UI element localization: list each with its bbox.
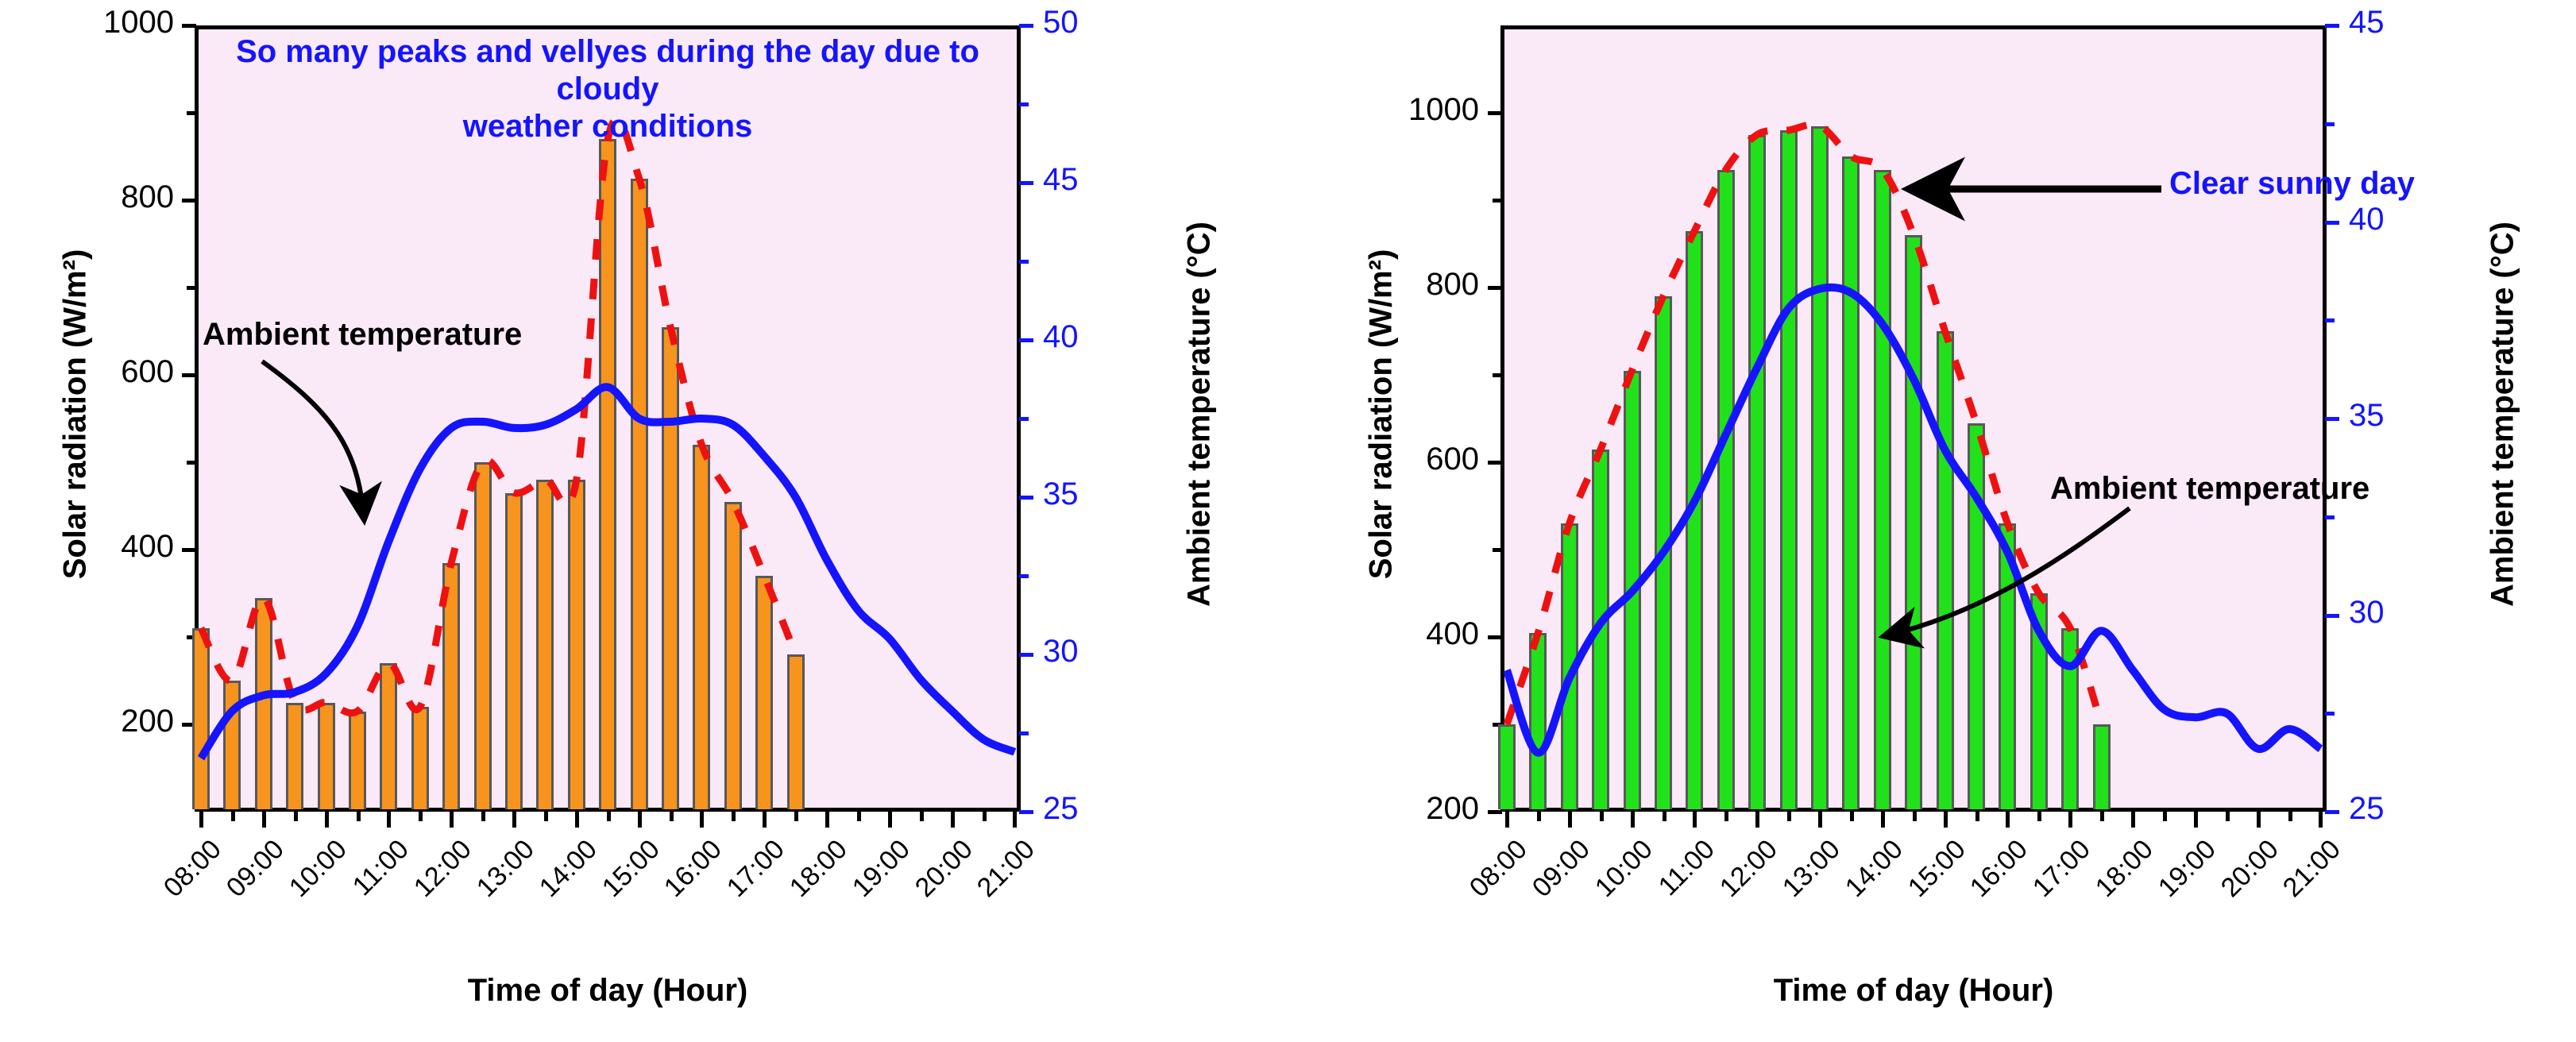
secondary-y-axis-minor-tick <box>1019 417 1029 421</box>
secondary-y-axis-tick-label: 30 <box>2349 595 2476 631</box>
y-axis-minor-tick <box>187 111 196 115</box>
y-axis-tick-label: 600 <box>1320 442 1479 477</box>
y-axis-tick <box>182 24 196 28</box>
x-axis-tick <box>575 812 579 828</box>
ambient-temperature-label: Ambient temperature <box>2050 470 2543 507</box>
bar <box>318 703 335 810</box>
bar <box>1655 296 1672 809</box>
y-axis-minor-tick <box>1493 548 1502 552</box>
x-axis-minor-tick <box>2288 812 2292 821</box>
x-axis-minor-tick <box>1537 812 1541 821</box>
y-axis-tick-label: 400 <box>15 529 174 565</box>
bar <box>1561 523 1578 809</box>
y-axis-minor-tick <box>187 461 196 465</box>
x-axis-minor-tick <box>2226 812 2230 821</box>
x-axis-tick <box>1881 812 1885 828</box>
x-axis-tick <box>199 812 203 828</box>
secondary-y-axis-minor-tick <box>1019 731 1029 735</box>
y-axis-minor-tick <box>1493 373 1502 377</box>
bar <box>724 502 742 810</box>
bar <box>255 598 272 810</box>
y-axis-tick <box>1488 635 1502 639</box>
bar <box>1624 371 1641 810</box>
x-axis-minor-tick <box>419 812 423 821</box>
y-axis-tick <box>182 548 196 552</box>
secondary-y-axis-minor-tick <box>1019 102 1029 106</box>
bar <box>599 139 616 809</box>
x-axis-tick <box>1505 812 1509 828</box>
secondary-y-axis-title: Ambient temperature (°C) <box>2485 113 2521 716</box>
x-axis-minor-tick <box>1913 812 1917 821</box>
secondary-y-axis-tick-label: 45 <box>2349 5 2476 41</box>
y-axis-tick-label: 1000 <box>15 5 174 41</box>
chart-panel-right: 2004006008001000253035404508:0009:0010:0… <box>1288 0 2575 1042</box>
secondary-y-axis-minor-tick <box>2325 515 2335 519</box>
secondary-y-axis-minor-tick <box>1019 260 1029 264</box>
bar <box>1968 423 1985 810</box>
secondary-y-axis-tick <box>2325 417 2339 421</box>
secondary-y-axis-tick-label: 30 <box>1043 634 1170 670</box>
x-axis-tick <box>2131 812 2135 828</box>
secondary-y-axis-minor-tick <box>1019 574 1029 578</box>
bar <box>1592 450 1609 810</box>
bar <box>2061 628 2079 809</box>
x-axis-minor-tick <box>857 812 861 821</box>
secondary-y-axis-tick-label: 40 <box>2349 202 2476 237</box>
y-axis-minor-tick <box>187 286 196 290</box>
y-axis-tick <box>182 199 196 203</box>
bar <box>192 628 210 809</box>
x-axis-tick <box>825 812 829 828</box>
figure-root: 200400600800100025303540455008:0009:0010… <box>0 0 2576 1042</box>
x-axis-title: Time of day (Hour) <box>369 973 846 1009</box>
bar <box>1780 130 1798 809</box>
secondary-y-axis-title: Ambient temperature (°C) <box>1182 113 1218 716</box>
secondary-y-axis-minor-tick <box>2325 712 2335 716</box>
x-axis-tick <box>387 812 391 828</box>
bar <box>1686 231 1703 810</box>
x-axis-title: Time of day (Hour) <box>1675 973 2152 1009</box>
x-axis-tick <box>1693 812 1697 828</box>
bar <box>380 663 397 809</box>
bar <box>1999 523 2016 809</box>
bar <box>1811 126 1829 810</box>
y-axis-tick <box>1488 810 1502 814</box>
bar <box>1717 170 1735 810</box>
x-axis-minor-tick <box>357 812 361 821</box>
secondary-y-axis-tick-label: 25 <box>1043 791 1170 827</box>
x-axis-minor-tick <box>1850 812 1854 821</box>
secondary-y-axis-tick-label: 45 <box>1043 162 1170 198</box>
x-axis-minor-tick <box>794 812 798 821</box>
y-axis-tick <box>1488 286 1502 290</box>
x-axis-tick <box>1013 812 1017 828</box>
x-axis-minor-tick <box>2163 812 2167 821</box>
x-axis-tick <box>262 812 266 828</box>
x-axis-tick <box>2194 812 2198 828</box>
x-axis-tick <box>2006 812 2010 828</box>
x-axis-tick <box>763 812 767 828</box>
x-axis-minor-tick <box>1600 812 1604 821</box>
bar <box>1842 156 1860 809</box>
cloudy-note: So many peaks and vellyes during the day… <box>199 33 1017 146</box>
bar <box>662 327 679 810</box>
x-axis-tick <box>1568 812 1572 828</box>
x-axis-minor-tick <box>2100 812 2104 821</box>
x-axis-minor-tick <box>1663 812 1666 821</box>
x-axis-minor-tick <box>2037 812 2041 821</box>
bar <box>2030 593 2048 809</box>
bar <box>474 462 492 809</box>
bar <box>1498 724 1516 809</box>
bar <box>1529 633 1547 810</box>
y-axis-tick-label: 400 <box>1320 616 1479 652</box>
x-axis-minor-tick <box>1724 812 1728 821</box>
x-axis-minor-tick <box>607 812 611 821</box>
x-axis-tick <box>888 812 892 828</box>
x-axis-tick <box>512 812 516 828</box>
bar <box>787 654 805 809</box>
secondary-y-axis-tick <box>2325 614 2339 618</box>
x-axis-minor-tick <box>1787 812 1791 821</box>
x-axis-tick <box>638 812 642 828</box>
bar <box>223 681 241 809</box>
bar <box>2093 724 2111 809</box>
x-axis-minor-tick <box>732 812 736 821</box>
y-axis-tick <box>1488 461 1502 465</box>
bar <box>411 707 429 809</box>
y-axis-tick <box>1488 111 1502 115</box>
secondary-y-axis-tick <box>2325 221 2339 225</box>
x-axis-tick <box>1631 812 1635 828</box>
secondary-y-axis-tick-label: 50 <box>1043 5 1170 41</box>
x-axis-minor-tick <box>294 812 298 821</box>
secondary-y-axis-tick-label: 35 <box>2349 398 2476 434</box>
secondary-y-axis-tick-label: 35 <box>1043 477 1170 512</box>
x-axis-minor-tick <box>544 812 548 821</box>
y-axis-tick <box>182 373 196 377</box>
bar <box>568 480 585 809</box>
secondary-y-axis-tick <box>2325 810 2339 814</box>
bar <box>1748 135 1766 810</box>
ambient-temperature-label: Ambient temperature <box>203 316 647 353</box>
secondary-y-axis-tick <box>1019 338 1033 342</box>
x-axis-minor-tick <box>1975 812 1979 821</box>
x-axis-tick <box>2319 812 2323 828</box>
x-axis-tick <box>1755 812 1759 828</box>
y-axis-tick-label: 200 <box>1320 791 1479 827</box>
secondary-y-axis-tick <box>1019 181 1033 185</box>
x-axis-minor-tick <box>920 812 924 821</box>
bar <box>349 712 366 810</box>
x-axis-tick <box>700 812 704 828</box>
y-axis-tick-label: 200 <box>15 704 174 739</box>
secondary-y-axis-tick <box>2325 24 2339 28</box>
x-axis-tick <box>2257 812 2261 828</box>
x-axis-tick <box>1944 812 1948 828</box>
y-axis-tick-label: 600 <box>15 354 174 390</box>
y-axis-minor-tick <box>1493 199 1502 203</box>
secondary-y-axis-tick <box>1019 496 1033 500</box>
bar <box>631 179 648 810</box>
secondary-y-axis-tick <box>1019 653 1033 657</box>
bar <box>505 493 523 810</box>
x-axis-minor-tick <box>670 812 674 821</box>
clear-sunny-day-note: Clear sunny day <box>2169 165 2551 203</box>
y-axis-title: Solar radiation (W/m²) <box>1364 113 1400 716</box>
secondary-y-axis-tick <box>1019 24 1033 28</box>
bar <box>442 563 460 810</box>
secondary-y-axis-minor-tick <box>2325 122 2335 126</box>
x-axis-minor-tick <box>481 812 485 821</box>
bar <box>286 703 303 810</box>
x-axis-minor-tick <box>983 812 987 821</box>
x-axis-tick <box>2068 812 2072 828</box>
bar <box>1874 170 1891 810</box>
x-axis-tick <box>325 812 329 828</box>
bar <box>536 480 554 809</box>
y-axis-tick-label: 800 <box>1320 267 1479 303</box>
secondary-y-axis-minor-tick <box>2325 318 2335 322</box>
bar <box>755 576 773 809</box>
x-axis-tick <box>951 812 955 828</box>
secondary-y-axis-tick-label: 40 <box>1043 319 1170 355</box>
secondary-y-axis-tick-label: 25 <box>2349 791 2476 827</box>
x-axis-minor-tick <box>231 812 235 821</box>
y-axis-title: Solar radiation (W/m²) <box>58 113 94 716</box>
y-axis-tick-label: 1000 <box>1320 92 1479 128</box>
secondary-y-axis-tick <box>1019 810 1033 814</box>
bar <box>1905 235 1922 809</box>
chart-panel-left: 200400600800100025303540455008:0009:0010… <box>0 0 1288 1042</box>
x-axis-tick <box>450 812 454 828</box>
y-axis-tick-label: 800 <box>15 179 174 215</box>
bar <box>693 445 710 809</box>
x-axis-tick <box>1818 812 1822 828</box>
bar <box>1937 331 1954 809</box>
